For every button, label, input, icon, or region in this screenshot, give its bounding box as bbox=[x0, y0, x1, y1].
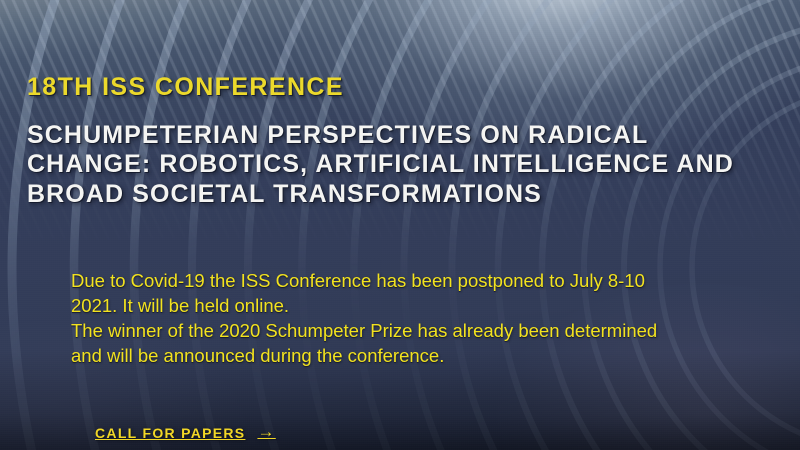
page-title: SCHUMPETERIAN PERSPECTIVES ON RADICAL CH… bbox=[27, 121, 747, 210]
call-for-papers-link[interactable]: Call for papers → bbox=[95, 424, 276, 441]
announcement-line-1: Due to Covid-19 the ISS Conference has b… bbox=[71, 268, 721, 293]
announcement-text: Due to Covid-19 the ISS Conference has b… bbox=[71, 268, 721, 368]
announcement-line-2: 2021. It will be held online. bbox=[71, 293, 721, 318]
announcement-line-4: and will be announced during the confere… bbox=[71, 343, 721, 368]
slide-content: 18TH ISS CONFERENCE SCHUMPETERIAN PERSPE… bbox=[0, 0, 800, 450]
arrow-right-icon: → bbox=[257, 423, 275, 440]
announcement-line-3: The winner of the 2020 Schumpeter Prize … bbox=[71, 318, 721, 343]
conference-poster-slide: 18TH ISS CONFERENCE SCHUMPETERIAN PERSPE… bbox=[0, 0, 800, 450]
call-for-papers-label: Call for papers bbox=[95, 425, 245, 441]
conference-kicker: 18TH ISS CONFERENCE bbox=[27, 74, 344, 102]
